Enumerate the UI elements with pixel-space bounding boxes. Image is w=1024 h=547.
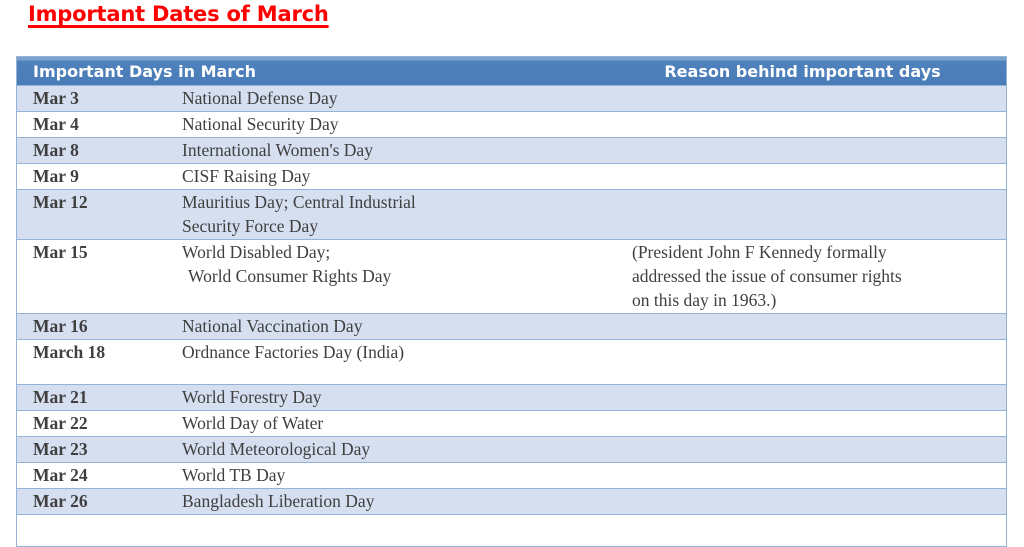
table-row: Mar 21 World Forestry Day [17, 385, 1006, 411]
cell-date: Mar 16 [17, 314, 179, 340]
cell-event: Mauritius Day; Central Industrial Securi… [179, 190, 627, 240]
cell-reason: (President John F Kennedy formally addre… [627, 240, 1006, 314]
cell-reason [627, 437, 1006, 463]
cell-date: Mar 22 [17, 411, 179, 437]
table-row: Mar 9 CISF Raising Day [17, 164, 1006, 190]
cell-event: National Defense Day [179, 86, 627, 112]
table-row: March 18 Ordnance Factories Day (India) [17, 340, 1006, 385]
cell-event: World TB Day [179, 463, 627, 489]
cell-reason [627, 86, 1006, 112]
cell-event-line1: Bangladesh Liberation Day [182, 489, 627, 513]
table-row: Mar 22 World Day of Water [17, 411, 1006, 437]
cell-event-line1: World TB Day [182, 463, 627, 487]
cell-event-line1: World Forestry Day [182, 385, 627, 409]
table-row: Mar 16 National Vaccination Day [17, 314, 1006, 340]
cell-date: Mar 15 [17, 240, 179, 314]
cell-reason [627, 340, 1006, 385]
important-dates-table: Important Days in March Reason behind im… [16, 56, 1007, 547]
cell-date: Mar 8 [17, 138, 179, 164]
table-row-empty [17, 515, 1006, 547]
cell-reason [627, 314, 1006, 340]
cell-reason [627, 515, 1006, 547]
cell-event: World Disabled Day; World Consumer Right… [179, 240, 627, 314]
table-row: Mar 8 International Women's Day [17, 138, 1006, 164]
table-body: Mar 3 National Defense Day Mar 4 Nationa… [17, 86, 1006, 547]
cell-reason-line2: addressed the issue of consumer rights [632, 264, 998, 288]
cell-event-line1: International Women's Day [182, 138, 627, 162]
cell-reason-line3: on this day in 1963.) [632, 288, 998, 312]
cell-reason [627, 463, 1006, 489]
page-title: Important Dates of March [28, 2, 329, 26]
cell-event-line1: National Security Day [182, 112, 627, 136]
cell-event-line1: Ordnance Factories Day (India) [182, 340, 627, 364]
table-row: Mar 4 National Security Day [17, 112, 1006, 138]
cell-reason-line1: (President John F Kennedy formally [632, 240, 998, 264]
table-row: Mar 15 World Disabled Day; World Consume… [17, 240, 1006, 314]
cell-event: World Day of Water [179, 411, 627, 437]
cell-event: World Forestry Day [179, 385, 627, 411]
table-row: Mar 23 World Meteorological Day [17, 437, 1006, 463]
table: Important Days in March Reason behind im… [17, 57, 1006, 546]
column-header-important-days: Important Days in March [17, 57, 627, 86]
cell-event: National Security Day [179, 112, 627, 138]
cell-event-line1: World Meteorological Day [182, 437, 627, 461]
cell-event-line1: World Day of Water [182, 411, 627, 435]
cell-date: Mar 12 [17, 190, 179, 240]
cell-date: March 18 [17, 340, 179, 385]
cell-date: Mar 4 [17, 112, 179, 138]
cell-date: Mar 24 [17, 463, 179, 489]
column-header-reason: Reason behind important days [627, 57, 1006, 86]
cell-event-line2: Security Force Day [182, 214, 627, 238]
cell-event: World Meteorological Day [179, 437, 627, 463]
cell-event: International Women's Day [179, 138, 627, 164]
cell-reason [627, 190, 1006, 240]
cell-event-line2: World Consumer Rights Day [182, 264, 627, 288]
cell-event: Ordnance Factories Day (India) [179, 340, 627, 385]
cell-event: Bangladesh Liberation Day [179, 489, 627, 515]
cell-date [17, 515, 179, 547]
cell-event-line1: National Defense Day [182, 86, 627, 110]
cell-date: Mar 23 [17, 437, 179, 463]
cell-reason [627, 164, 1006, 190]
table-row: Mar 12 Mauritius Day; Central Industrial… [17, 190, 1006, 240]
cell-reason [627, 112, 1006, 138]
table-header: Important Days in March Reason behind im… [17, 57, 1006, 86]
cell-date: Mar 21 [17, 385, 179, 411]
table-row: Mar 24 World TB Day [17, 463, 1006, 489]
cell-reason [627, 489, 1006, 515]
cell-event: CISF Raising Day [179, 164, 627, 190]
cell-event-line1: CISF Raising Day [182, 164, 627, 188]
cell-date: Mar 26 [17, 489, 179, 515]
cell-reason [627, 138, 1006, 164]
cell-event-line1: World Disabled Day; [182, 240, 627, 264]
cell-event-line1: Mauritius Day; Central Industrial [182, 190, 627, 214]
cell-event [179, 515, 627, 547]
cell-event: National Vaccination Day [179, 314, 627, 340]
table-row: Mar 26 Bangladesh Liberation Day [17, 489, 1006, 515]
cell-event-line1: National Vaccination Day [182, 314, 627, 338]
table-header-row: Important Days in March Reason behind im… [17, 57, 1006, 86]
cell-date: Mar 3 [17, 86, 179, 112]
cell-reason [627, 385, 1006, 411]
cell-reason [627, 411, 1006, 437]
cell-date: Mar 9 [17, 164, 179, 190]
table-row: Mar 3 National Defense Day [17, 86, 1006, 112]
